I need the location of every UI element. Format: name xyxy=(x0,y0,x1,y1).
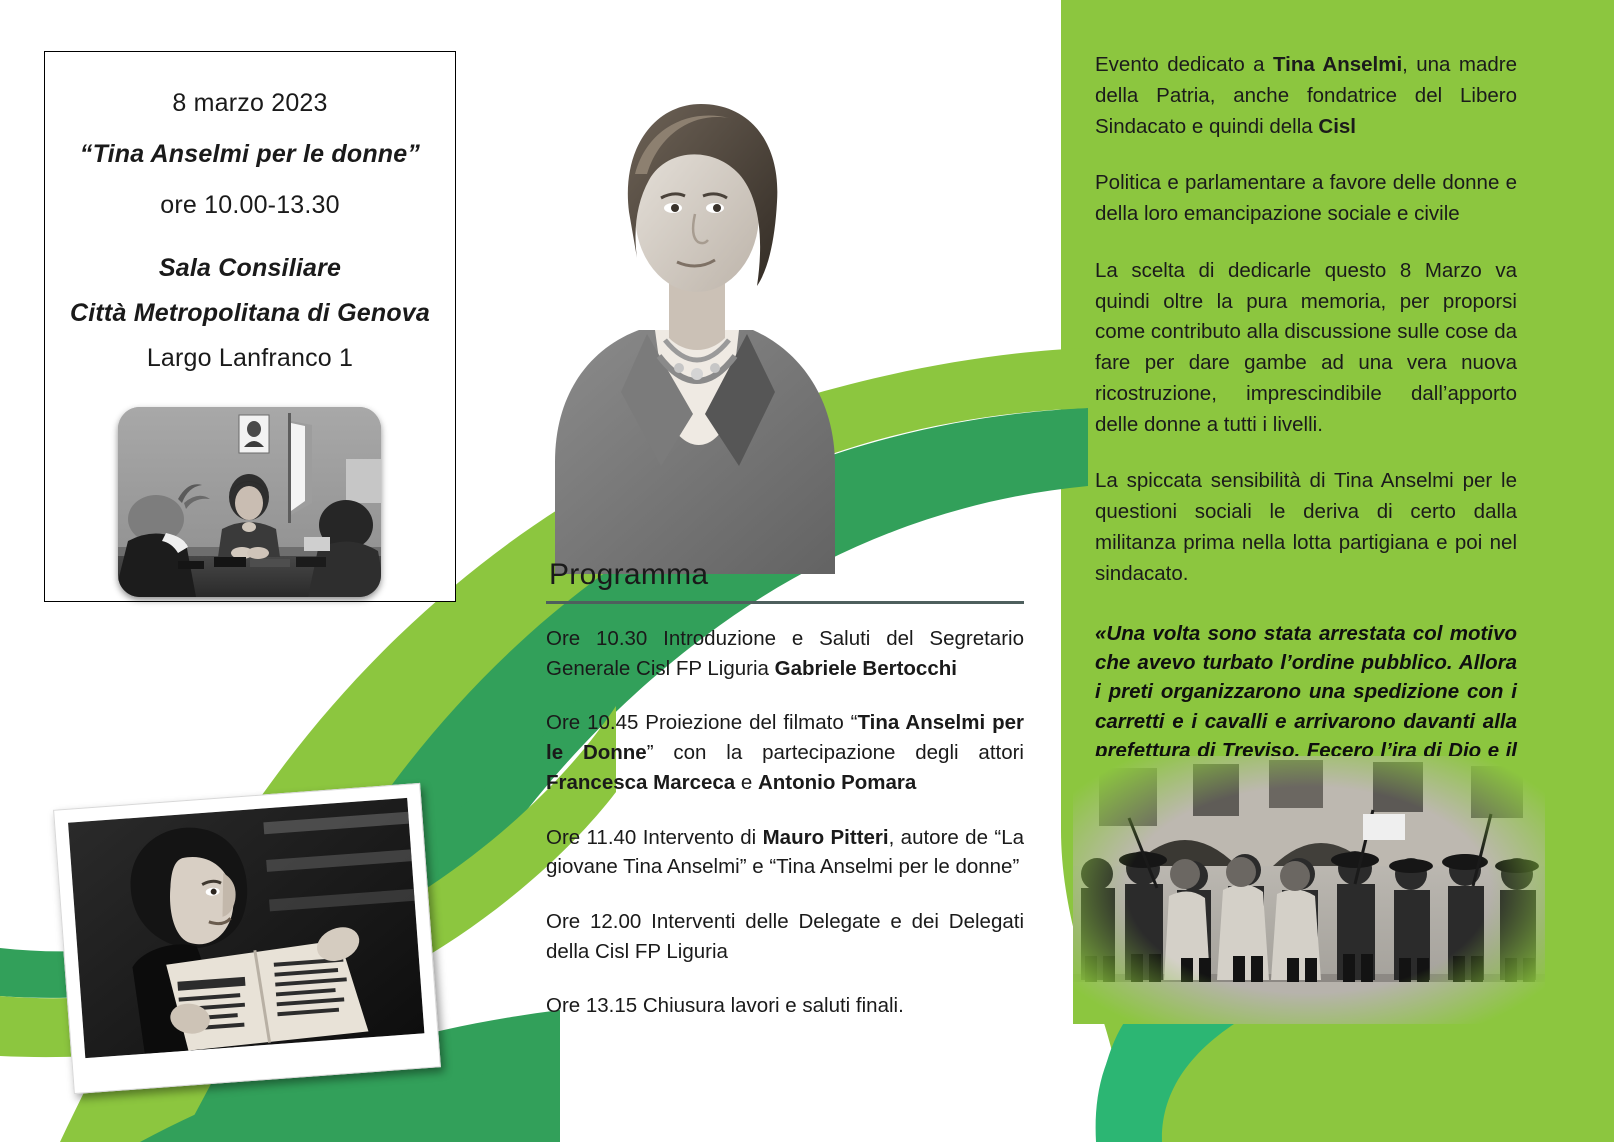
emphasis-text: Francesca Marceca xyxy=(546,771,735,794)
event-info-card: 8 marzo 2023 “Tina Anselmi per le donne”… xyxy=(44,51,456,602)
programma-section: Programma Ore 10.30 Introduzione e Salut… xyxy=(546,558,1024,1021)
emphasis-text: Gabriele Bertocchi xyxy=(775,657,957,680)
emphasis-text: Cisl xyxy=(1318,115,1356,138)
right-text-column: Evento dedicato a Tina Anselmi, una madr… xyxy=(1095,50,1517,823)
paragraph: La scelta di dedicarle questo 8 Marzo va… xyxy=(1095,256,1517,441)
paragraph: Politica e parlamentare a favore delle d… xyxy=(1095,168,1517,230)
paragraph: La spiccata sensibilità di Tina Anselmi … xyxy=(1095,466,1517,589)
event-address: Largo Lanfranco 1 xyxy=(45,344,455,373)
event-date: 8 marzo 2023 xyxy=(45,89,455,118)
photo-tina-reading-newspaper xyxy=(53,783,441,1094)
emphasis-text: Mauro Pitteri xyxy=(763,826,889,849)
photo-partisan-crowd xyxy=(1073,756,1545,1024)
event-time: ore 10.00-13.30 xyxy=(45,191,455,220)
emphasis-text: Tina Anselmi xyxy=(1273,53,1402,76)
paragraph: Evento dedicato a Tina Anselmi, una madr… xyxy=(1095,50,1517,142)
paragraph: Ore 10.45 Proiezione del filmato “Tina A… xyxy=(546,708,1024,797)
emphasis-text: Antonio Pomara xyxy=(758,771,916,794)
programma-divider xyxy=(546,601,1024,604)
paragraph: Ore 11.40 Intervento di Mauro Pitteri, a… xyxy=(546,823,1024,882)
event-venue-hall: Sala Consiliare xyxy=(45,254,455,283)
paragraph: Ore 10.30 Introduzione e Saluti del Segr… xyxy=(546,624,1024,683)
event-title: “Tina Anselmi per le donne” xyxy=(45,140,455,169)
paragraph: Ore 13.15 Chiusura lavori e saluti final… xyxy=(546,991,1024,1021)
portrait-tina-anselmi xyxy=(543,62,848,574)
programma-heading: Programma xyxy=(549,558,1024,592)
photo-tina-at-council-table xyxy=(118,407,381,597)
right-paragraph-list: Evento dedicato a Tina Anselmi, una madr… xyxy=(1095,50,1517,589)
programma-item-list: Ore 10.30 Introduzione e Saluti del Segr… xyxy=(546,624,1024,1021)
paragraph: Ore 12.00 Interventi delle Delegate e de… xyxy=(546,907,1024,966)
event-venue-org: Città Metropolitana di Genova xyxy=(45,299,455,328)
